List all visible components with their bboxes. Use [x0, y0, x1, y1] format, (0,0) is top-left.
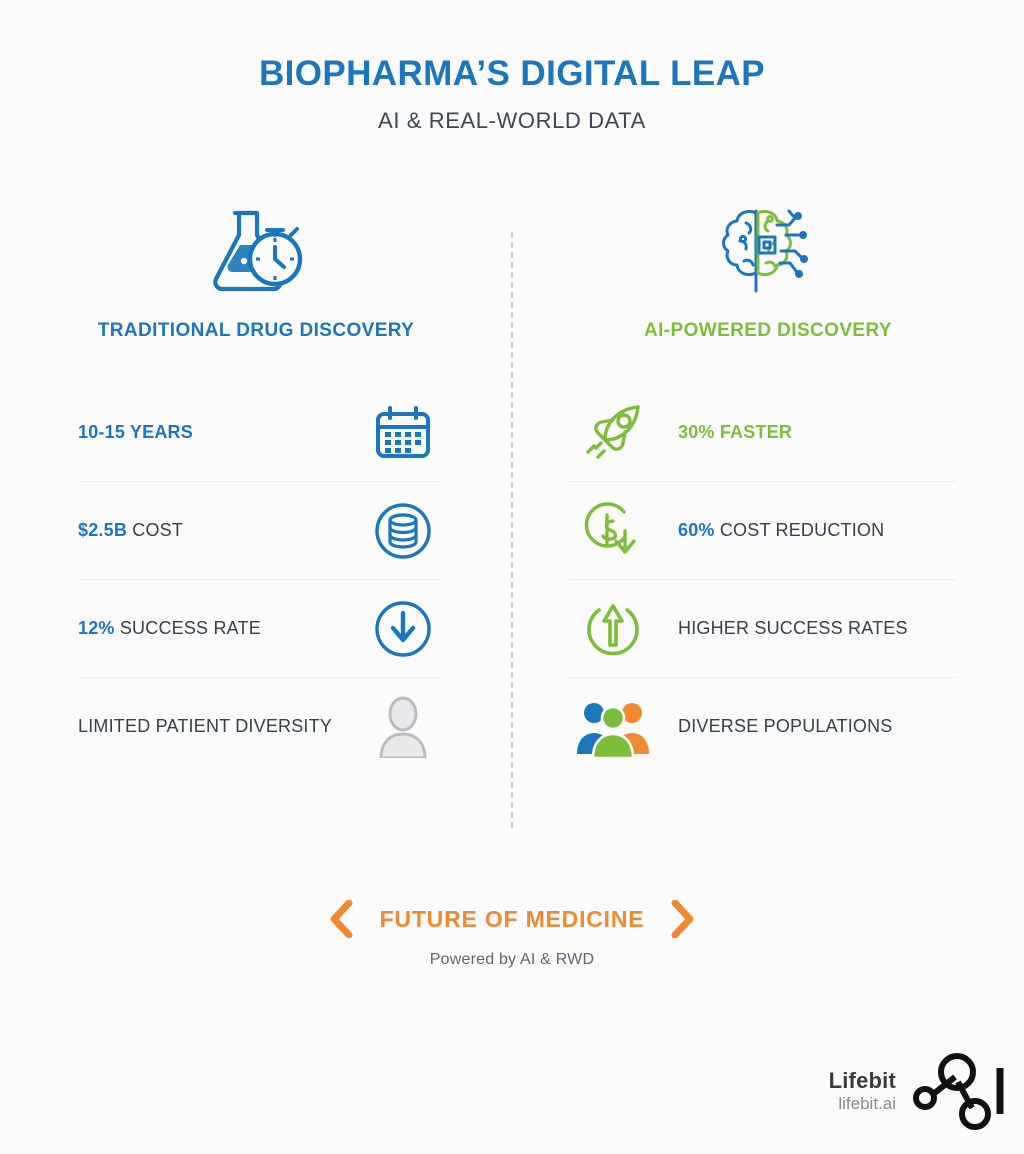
row-rest: DIVERSE POPULATIONS [678, 716, 893, 736]
list-item: 10-15 YEARS [78, 384, 440, 482]
calendar-icon [366, 406, 440, 460]
comparison-columns: TRADITIONAL DRUG DISCOVERY 10-15 YEARS [0, 196, 1024, 836]
chevron-right-icon [670, 900, 696, 938]
chevron-left-icon [328, 900, 354, 938]
page-title: BIOPHARMA’S DIGITAL LEAP [0, 55, 1024, 94]
row-label: LIMITED PATIENT DIVERSITY [78, 715, 366, 738]
ai-column: AI-POWERED DISCOVERY 30% F [512, 196, 1024, 836]
rocket-icon [570, 403, 656, 463]
group-people-icon [570, 696, 656, 758]
logo-name: Lifebit [829, 1068, 896, 1094]
list-item: 30% FASTER [570, 384, 956, 482]
logo-url: lifebit.ai [829, 1094, 896, 1114]
row-label: 12% SUCCESS RATE [78, 617, 366, 640]
list-item: 60% COST REDUCTION [570, 482, 956, 580]
list-item: LIMITED PATIENT DIVERSITY [78, 678, 440, 776]
row-label: $2.5B COST [78, 519, 366, 542]
row-rest: COST REDUCTION [715, 520, 885, 540]
lifebit-node-graph-logo [910, 1050, 1006, 1132]
traditional-column-title: TRADITIONAL DRUG DISCOVERY [0, 320, 512, 342]
row-label: HIGHER SUCCESS RATES [656, 617, 956, 640]
ai-column-title: AI-POWERED DISCOVERY [512, 320, 1024, 342]
circle-down-arrow-icon [366, 600, 440, 658]
database-cost-icon [366, 502, 440, 560]
row-rest: SUCCESS RATE [115, 618, 261, 638]
row-rest: COST [127, 520, 183, 540]
row-highlight: 30% FASTER [678, 422, 792, 442]
ai-brain-circuit-icon [512, 196, 1024, 306]
row-rest: LIMITED PATIENT DIVERSITY [78, 716, 332, 736]
list-item: 12% SUCCESS RATE [78, 580, 440, 678]
single-person-icon [366, 696, 440, 758]
traditional-rows: 10-15 YEARS [0, 384, 512, 776]
traditional-column: TRADITIONAL DRUG DISCOVERY 10-15 YEARS [0, 196, 512, 836]
row-highlight: 10-15 YEARS [78, 422, 193, 442]
row-label: 60% COST REDUCTION [656, 519, 956, 542]
ai-rows: 30% FASTER 60% COST REDUCTION [512, 384, 1024, 776]
row-label: 10-15 YEARS [78, 421, 366, 444]
circle-up-arrow-icon [570, 598, 656, 660]
footer-band: FUTURE OF MEDICINE Powered by AI & RWD [0, 900, 1024, 969]
list-item: $2.5B COST [78, 482, 440, 580]
row-highlight: 60% [678, 520, 715, 540]
row-label: DIVERSE POPULATIONS [656, 715, 956, 738]
logo-text: Lifebit lifebit.ai [829, 1068, 896, 1113]
flask-stopwatch-icon [0, 196, 512, 306]
list-item: HIGHER SUCCESS RATES [570, 580, 956, 678]
footer-title: FUTURE OF MEDICINE [380, 906, 645, 933]
footer-subtitle: Powered by AI & RWD [0, 951, 1024, 969]
list-item: DIVERSE POPULATIONS [570, 678, 956, 776]
row-rest: HIGHER SUCCESS RATES [678, 618, 908, 638]
row-highlight: 12% [78, 618, 115, 638]
footer-title-line: FUTURE OF MEDICINE [0, 900, 1024, 938]
dollar-down-arrow-icon [570, 498, 656, 564]
page-subtitle: AI & REAL-WORLD DATA [0, 108, 1024, 134]
lifebit-logo[interactable]: Lifebit lifebit.ai [829, 1050, 1006, 1132]
row-label: 30% FASTER [656, 421, 956, 444]
row-highlight: $2.5B [78, 520, 127, 540]
header: BIOPHARMA’S DIGITAL LEAP AI & REAL-WORLD… [0, 0, 1024, 134]
